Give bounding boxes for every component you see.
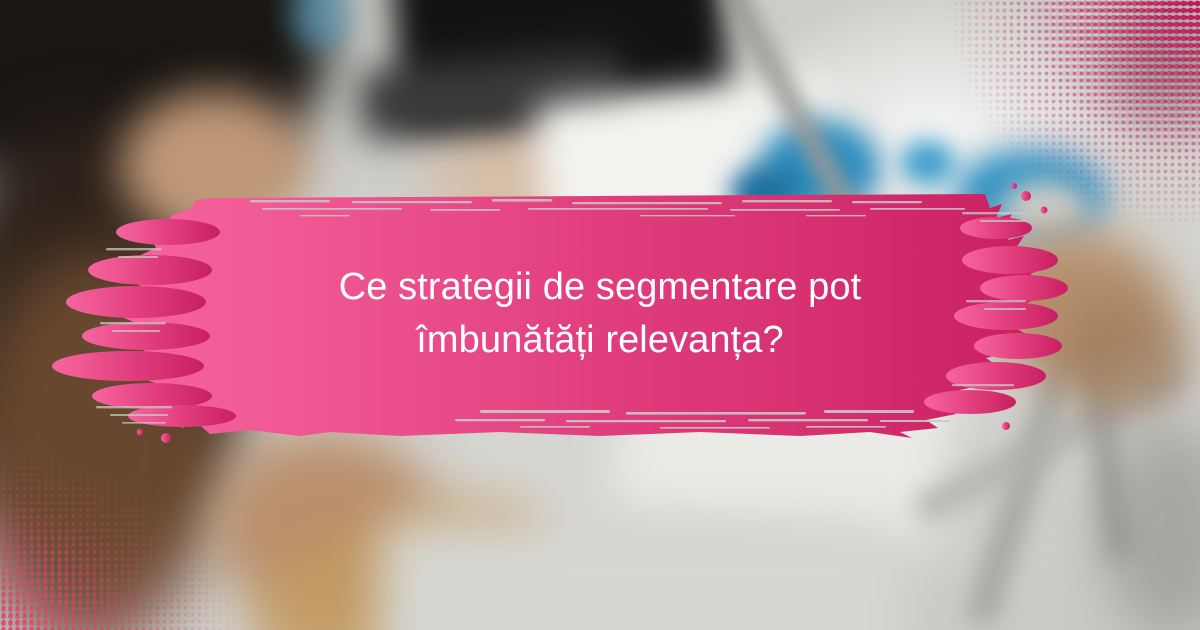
social-card: Ce strategii de segmentare pot îmbunătăț… [0, 0, 1200, 630]
headline: Ce strategii de segmentare pot îmbunătăț… [0, 196, 1200, 432]
headline-line-1: Ce strategii de segmentare pot [339, 261, 862, 314]
photo-blob-desk-sheet [380, 520, 900, 630]
headline-line-2: îmbunătăți relevanța? [416, 314, 784, 367]
